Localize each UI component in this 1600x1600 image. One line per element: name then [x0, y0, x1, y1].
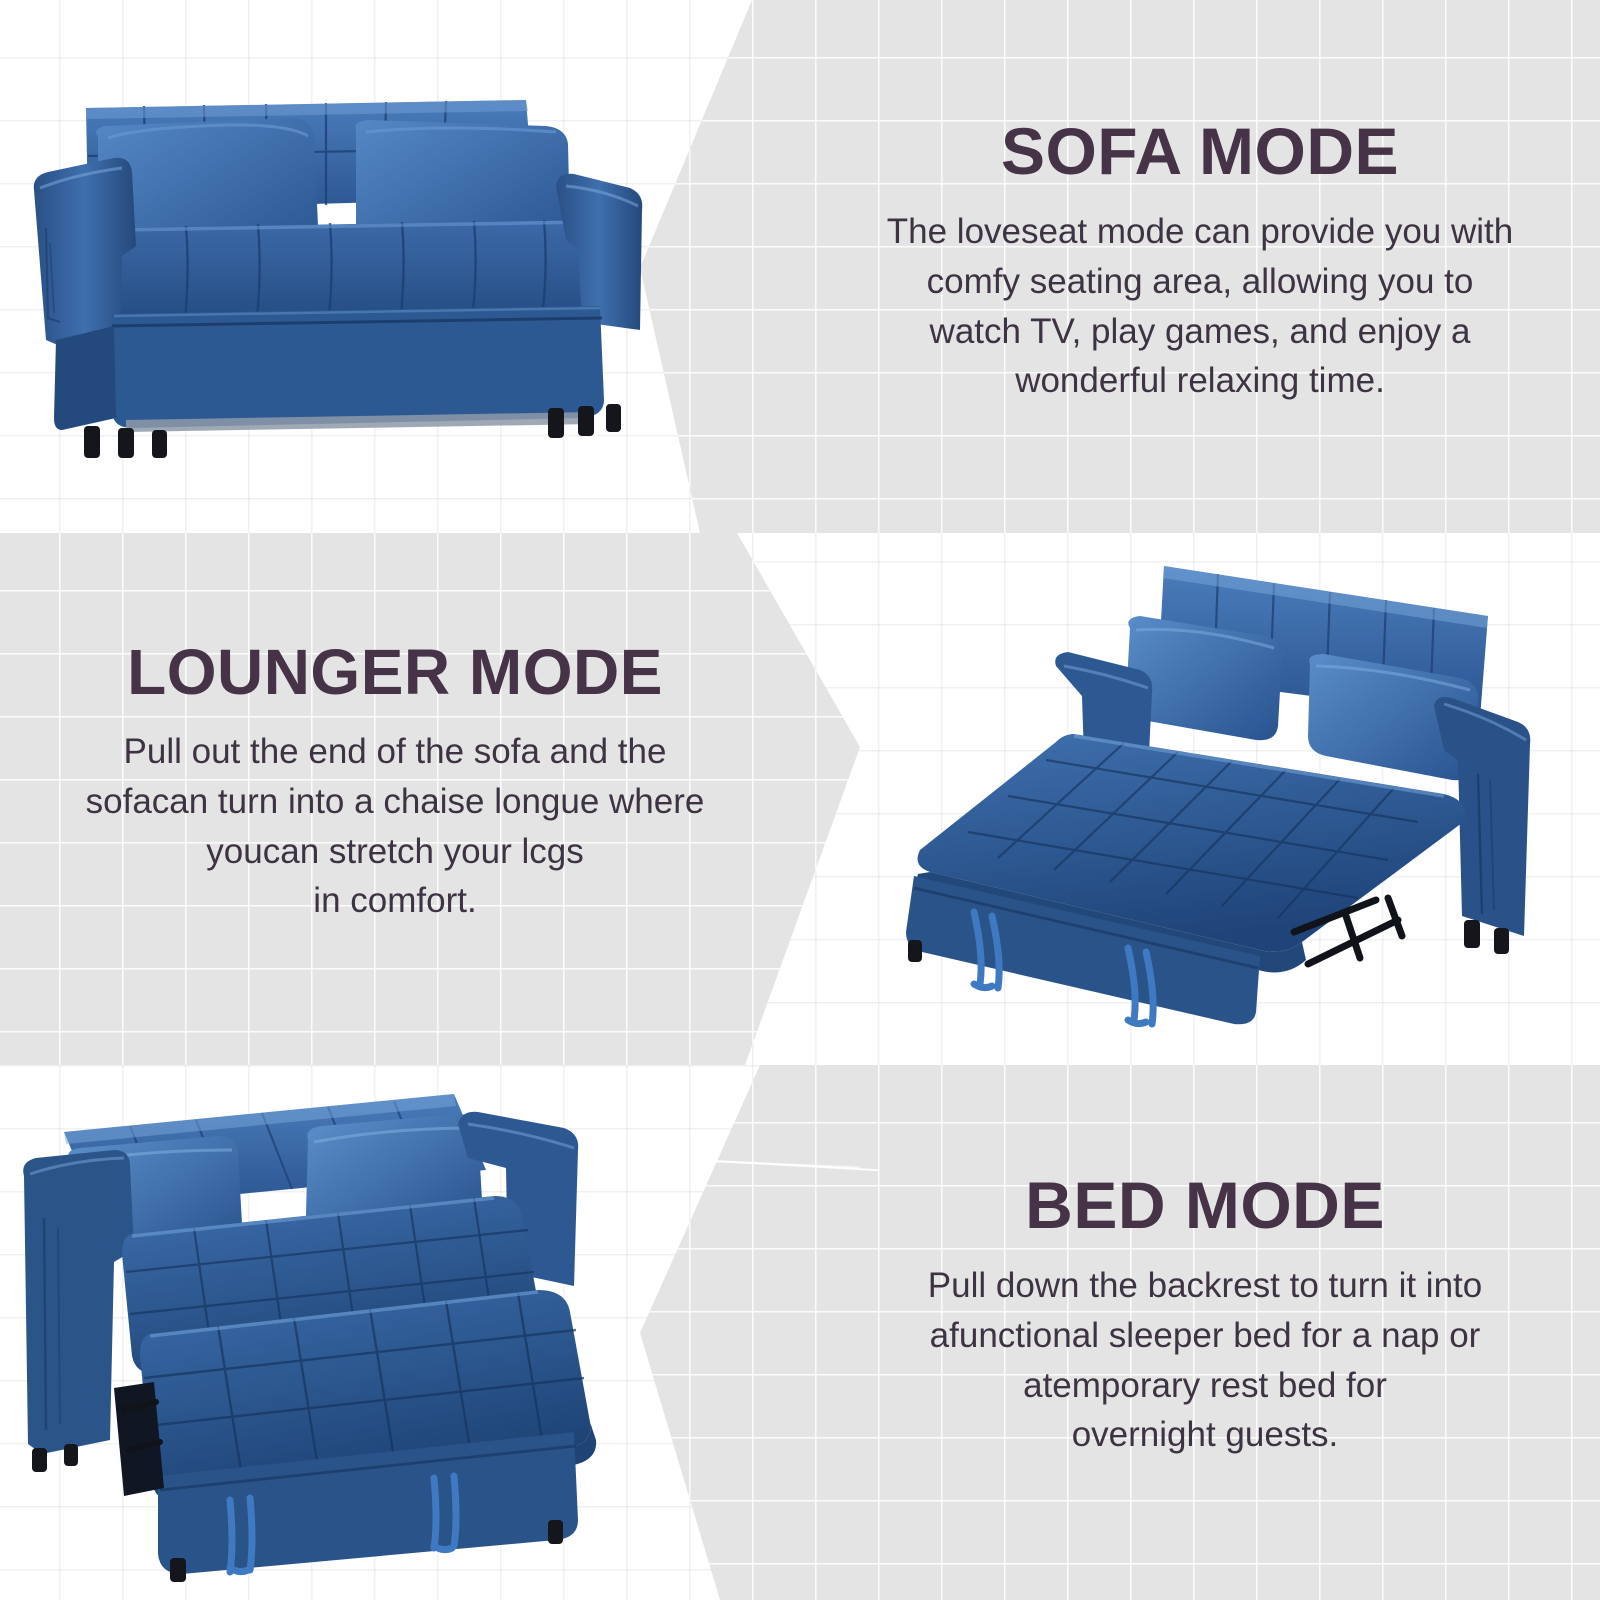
- text-block-sofa-mode: SOFA MODE The loveseat mode can provide …: [800, 118, 1600, 406]
- description-line: afunctional sleeper bed for a nap or: [930, 1316, 1481, 1355]
- description-line: in comfort.: [313, 881, 476, 920]
- product-image-lounger-mode: [878, 528, 1543, 1033]
- description-line: atemporary rest bed for: [1023, 1366, 1387, 1405]
- description-line: youcan stretch your lcgs: [206, 832, 583, 871]
- description-lounger-mode: Pull out the end of the sofa and the sof…: [0, 727, 790, 926]
- heading-sofa-mode: SOFA MODE: [800, 118, 1600, 185]
- product-image-sofa-mode: [26, 78, 646, 478]
- description-line: overnight guests.: [1072, 1415, 1339, 1454]
- description-line: sofacan turn into a chaise longue where: [86, 782, 705, 821]
- infographic-canvas: SOFA MODE The loveseat mode can provide …: [0, 0, 1600, 1600]
- text-block-lounger-mode: LOUNGER MODE Pull out the end of the sof…: [0, 640, 790, 926]
- description-line: Pull out the end of the sofa and the: [124, 732, 667, 771]
- description-line: comfy seating area, allowing you to: [927, 262, 1474, 301]
- description-line: Pull down the backrest to turn it into: [928, 1266, 1482, 1305]
- heading-bed-mode: BED MODE: [810, 1172, 1600, 1239]
- description-bed-mode: Pull down the backrest to turn it into a…: [810, 1261, 1600, 1460]
- product-image-bed-mode: [18, 1058, 683, 1583]
- text-block-bed-mode: BED MODE Pull down the backrest to turn …: [810, 1172, 1600, 1460]
- heading-lounger-mode: LOUNGER MODE: [0, 640, 790, 705]
- description-line: wonderful relaxing time.: [1015, 361, 1385, 400]
- description-line: The loveseat mode can provide you with: [887, 212, 1513, 251]
- description-sofa-mode: The loveseat mode can provide you with c…: [800, 207, 1600, 406]
- description-line: watch TV, play games, and enjoy a: [930, 312, 1471, 351]
